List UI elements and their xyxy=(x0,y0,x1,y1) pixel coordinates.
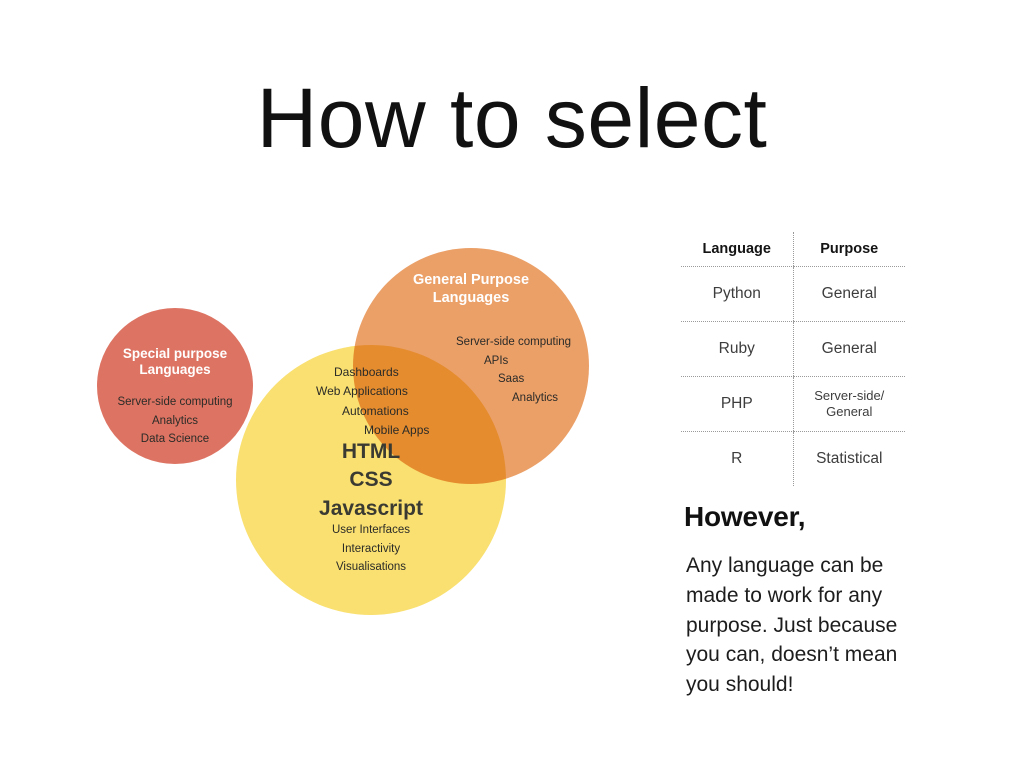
however-body-text: Any language can be made to work for any… xyxy=(686,551,934,700)
venn-list-special-purpose: Server-side computingAnalyticsData Scien… xyxy=(82,393,268,449)
table-header-language: Language xyxy=(681,232,793,267)
page-title: How to select xyxy=(0,76,1024,160)
table-cell-purpose: Statistical xyxy=(793,432,905,487)
venn-list-item: Data Science xyxy=(82,430,268,449)
table-cell-language: R xyxy=(681,432,793,487)
table-cell-language: PHP xyxy=(681,377,793,432)
slide-canvas: How to select Special purposeLanguages S… xyxy=(0,0,1024,768)
table-row: Python General xyxy=(681,267,905,322)
table-cell-purpose: Server-side/General xyxy=(793,377,905,432)
venn-list-item: Dashboards xyxy=(288,363,508,382)
venn-list-item: Web Applications xyxy=(288,382,508,401)
venn-list-item: Analytics xyxy=(82,412,268,431)
table-cell-purpose: General xyxy=(793,267,905,322)
table-cell-purpose: General xyxy=(793,322,905,377)
venn-list-intersection: Dashboards Web Applications Automations … xyxy=(288,363,508,441)
table-cell-language: Python xyxy=(681,267,793,322)
venn-list-item: Interactivity xyxy=(256,540,486,559)
venn-list-item: Server-side computing xyxy=(400,333,630,352)
however-heading: However, xyxy=(684,501,805,533)
table-header-purpose: Purpose xyxy=(793,232,905,267)
venn-label-special-purpose-heading: Special purposeLanguages xyxy=(97,346,253,379)
table-row: PHP Server-side/General xyxy=(681,377,905,432)
language-purpose-table: Language Purpose Python General Ruby Gen… xyxy=(681,232,905,486)
table-row: R Statistical xyxy=(681,432,905,487)
venn-list-item: Server-side computing xyxy=(82,393,268,412)
venn-label-general-purpose-heading: General PurposeLanguages xyxy=(356,272,586,307)
table-header-row: Language Purpose xyxy=(681,232,905,267)
venn-list-item: User Interfaces xyxy=(256,521,486,540)
table-cell-language: Ruby xyxy=(681,322,793,377)
venn-label-web-stack-heading: HTMLCSSJavascript xyxy=(256,438,486,523)
table-row: Ruby General xyxy=(681,322,905,377)
venn-list-web-stack: User InterfacesInteractivityVisualisatio… xyxy=(256,521,486,577)
venn-list-item: Visualisations xyxy=(256,558,486,577)
venn-diagram: Special purposeLanguages Server-side com… xyxy=(60,230,660,630)
venn-list-item: Automations xyxy=(288,402,508,421)
